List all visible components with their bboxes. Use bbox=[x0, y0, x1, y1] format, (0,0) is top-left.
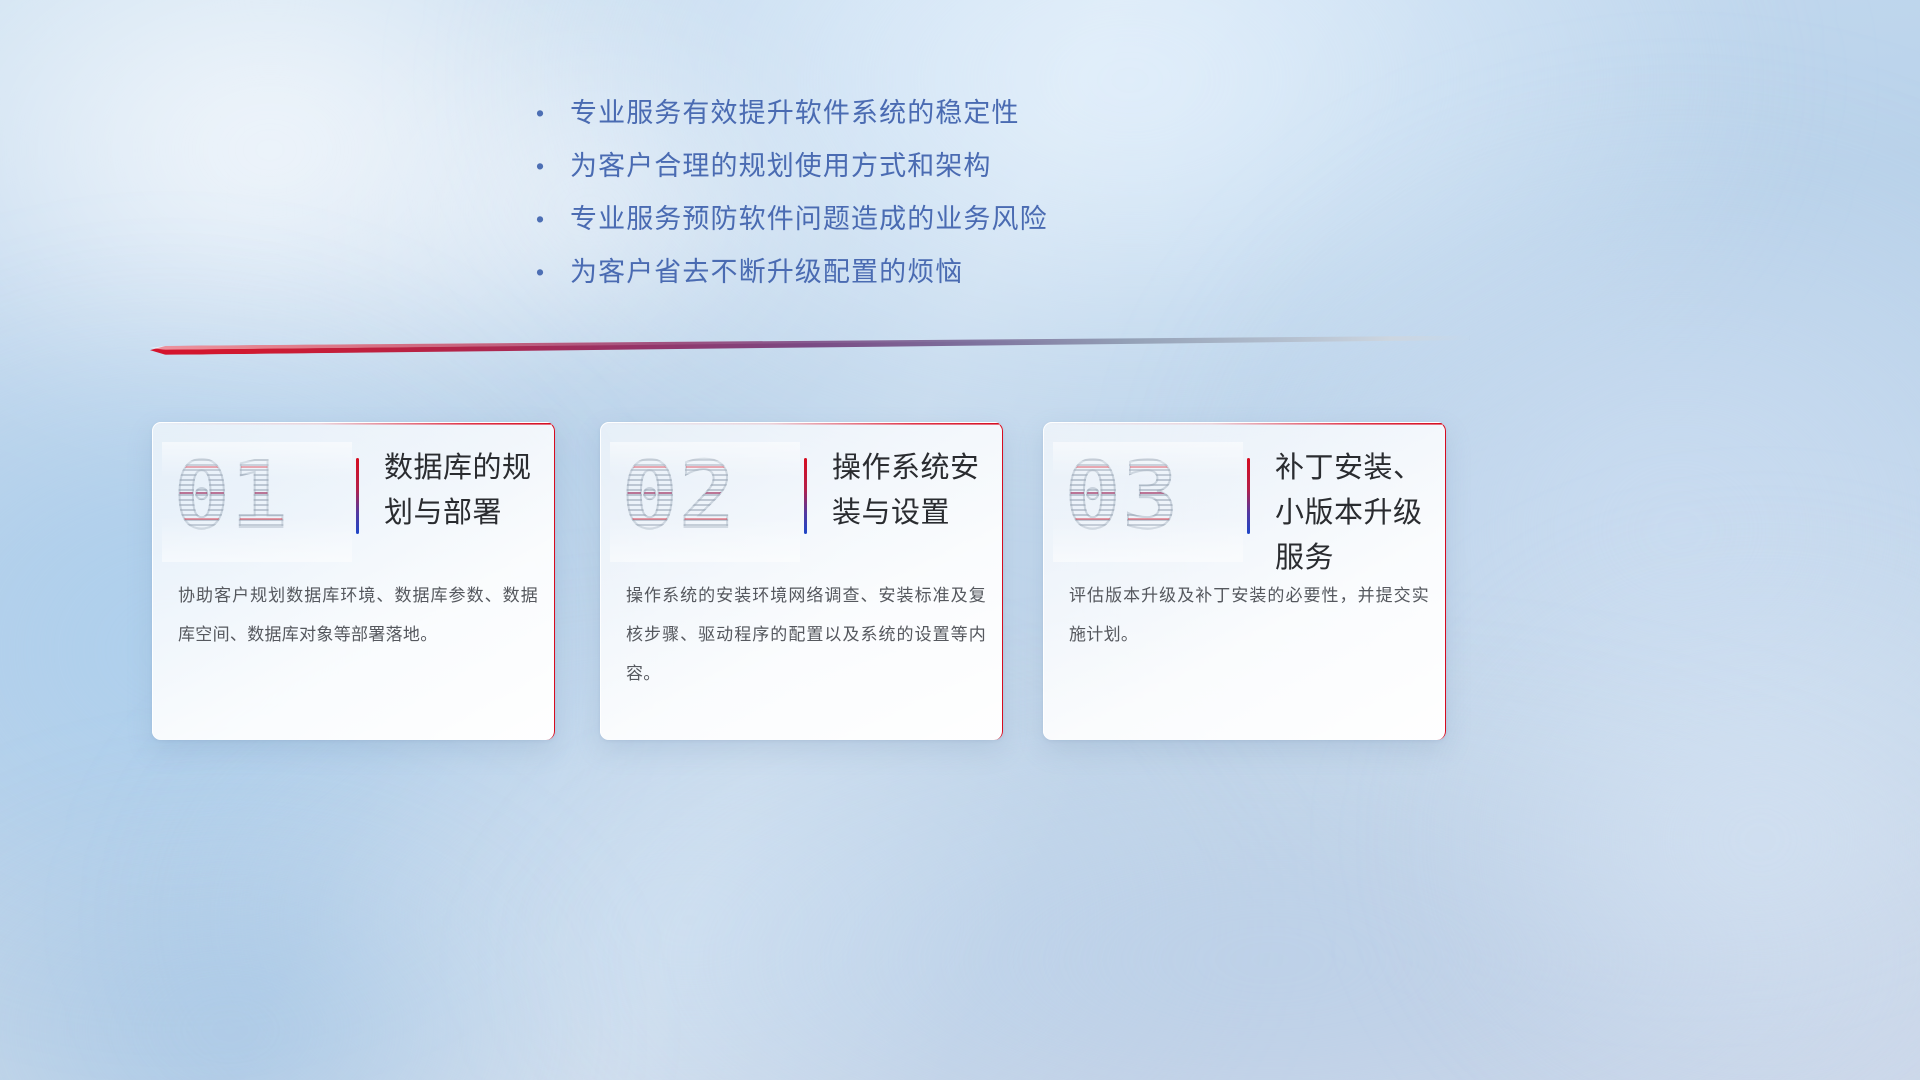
bullet-label: 为客户省去不断升级配置的烦恼 bbox=[570, 251, 963, 293]
list-item: • 为客户省去不断升级配置的烦恼 bbox=[536, 251, 1296, 293]
bullet-dot-icon: • bbox=[536, 145, 570, 187]
bullet-dot-icon: • bbox=[536, 92, 570, 134]
service-card[interactable]: 02 02 操作系统安装与设置 操作系统的安装环境网络调查、安装标准及复核步骤、… bbox=[600, 422, 1003, 740]
section-divider bbox=[150, 340, 1470, 366]
card-title-rule bbox=[1247, 458, 1250, 534]
card-header: 01 01 数据库的规划与部署 bbox=[152, 436, 555, 566]
list-item: • 专业服务预防软件问题造成的业务风险 bbox=[536, 198, 1296, 240]
list-item: • 专业服务有效提升软件系统的稳定性 bbox=[536, 92, 1296, 134]
benefits-bullet-list: • 专业服务有效提升软件系统的稳定性 • 为客户合理的规划使用方式和架构 • 专… bbox=[536, 92, 1296, 304]
bullet-dot-icon: • bbox=[536, 198, 570, 240]
bullet-label: 为客户合理的规划使用方式和架构 bbox=[570, 145, 992, 187]
card-number-ghost-tint: 01 bbox=[174, 446, 289, 546]
service-card[interactable]: 03 03 补丁安装、小版本升级服务 评估版本升级及补丁安装的必要性，并提交实施… bbox=[1043, 422, 1446, 740]
card-title: 数据库的规划与部署 bbox=[384, 446, 544, 536]
card-title: 操作系统安装与设置 bbox=[832, 446, 992, 536]
card-body-text: 协助客户规划数据库环境、数据库参数、数据库空间、数据库对象等部署落地。 bbox=[178, 576, 538, 654]
card-body-text: 操作系统的安装环境网络调查、安装标准及复核步骤、驱动程序的配置以及系统的设置等内… bbox=[626, 576, 986, 693]
bullet-dot-icon: • bbox=[536, 251, 570, 293]
bullet-label: 专业服务有效提升软件系统的稳定性 bbox=[570, 92, 1020, 134]
bullet-label: 专业服务预防软件问题造成的业务风险 bbox=[570, 198, 1048, 240]
card-title-rule bbox=[804, 458, 807, 534]
card-number-ghost-tint: 02 bbox=[622, 446, 737, 546]
service-card[interactable]: 01 01 数据库的规划与部署 协助客户规划数据库环境、数据库参数、数据库空间、… bbox=[152, 422, 555, 740]
card-body-text: 评估版本升级及补丁安装的必要性，并提交实施计划。 bbox=[1069, 576, 1429, 654]
card-title-rule bbox=[356, 458, 359, 534]
card-header: 03 03 补丁安装、小版本升级服务 bbox=[1043, 436, 1446, 566]
card-header: 02 02 操作系统安装与设置 bbox=[600, 436, 1003, 566]
list-item: • 为客户合理的规划使用方式和架构 bbox=[536, 145, 1296, 187]
service-card-group: 01 01 数据库的规划与部署 协助客户规划数据库环境、数据库参数、数据库空间、… bbox=[152, 422, 1452, 752]
card-number-ghost-tint: 03 bbox=[1065, 446, 1180, 546]
slide-canvas: • 专业服务有效提升软件系统的稳定性 • 为客户合理的规划使用方式和架构 • 专… bbox=[0, 0, 1920, 1080]
card-title: 补丁安装、小版本升级服务 bbox=[1275, 446, 1435, 581]
